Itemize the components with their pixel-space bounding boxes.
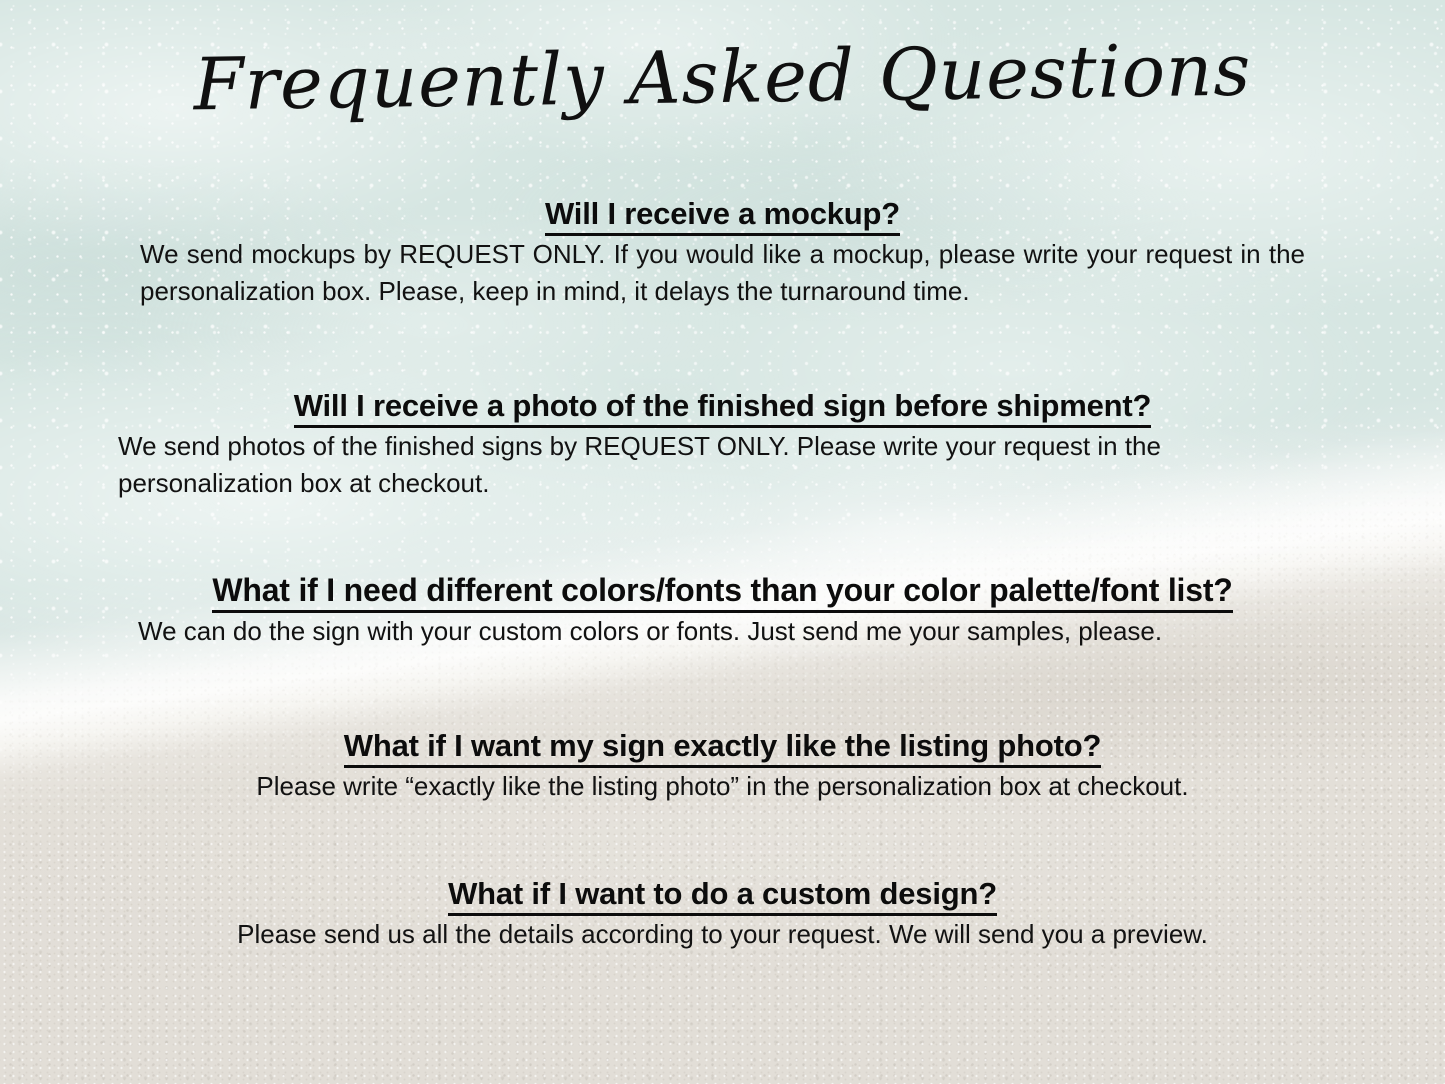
faq-page: Frequently Asked Questions Will I receiv… bbox=[0, 0, 1445, 1084]
faq-question-3: What if I need different colors/fonts th… bbox=[110, 572, 1335, 609]
faq-item-1: Will I receive a mockup? We send mockups… bbox=[110, 196, 1335, 310]
faq-question-4: What if I want my sign exactly like the … bbox=[110, 728, 1335, 764]
faq-answer-3: We can do the sign with your custom colo… bbox=[110, 613, 1335, 650]
faq-question-2-text: Will I receive a photo of the finished s… bbox=[294, 388, 1152, 428]
faq-question-5: What if I want to do a custom design? bbox=[110, 876, 1335, 912]
faq-answer-1: We send mockups by REQUEST ONLY. If you … bbox=[110, 236, 1335, 310]
faq-answer-4: Please write “exactly like the listing p… bbox=[110, 768, 1335, 805]
faq-question-2: Will I receive a photo of the finished s… bbox=[110, 388, 1335, 424]
faq-question-4-text: What if I want my sign exactly like the … bbox=[344, 728, 1101, 768]
faq-item-5: What if I want to do a custom design? Pl… bbox=[110, 876, 1335, 953]
faq-content: Frequently Asked Questions Will I receiv… bbox=[0, 0, 1445, 1084]
faq-item-2: Will I receive a photo of the finished s… bbox=[110, 388, 1335, 502]
faq-question-1: Will I receive a mockup? bbox=[110, 196, 1335, 232]
faq-question-5-text: What if I want to do a custom design? bbox=[448, 876, 997, 916]
faq-question-1-text: Will I receive a mockup? bbox=[545, 196, 900, 236]
faq-item-4: What if I want my sign exactly like the … bbox=[110, 728, 1335, 805]
faq-question-3-text: What if I need different colors/fonts th… bbox=[212, 572, 1232, 613]
faq-item-3: What if I need different colors/fonts th… bbox=[110, 572, 1335, 650]
faq-answer-2: We send photos of the finished signs by … bbox=[110, 428, 1335, 502]
page-title: Frequently Asked Questions bbox=[0, 30, 1445, 126]
faq-answer-5: Please send us all the details according… bbox=[110, 916, 1335, 953]
